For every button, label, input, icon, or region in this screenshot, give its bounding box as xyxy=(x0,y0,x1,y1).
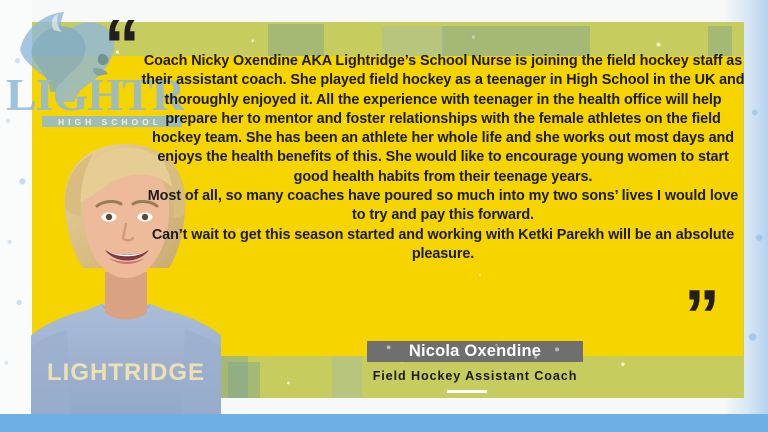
shirt-wordmark: LIGHTRIDGE xyxy=(47,359,205,386)
open-quote-icon: “ xyxy=(104,24,138,69)
announcement-graphic: LIGHTRIDGE HIGH SCHOOL xyxy=(0,0,768,432)
quote-paragraph: Coach Nicky Oxendine AKA Lightridge’s Sc… xyxy=(140,52,746,187)
divider-rule xyxy=(447,390,487,393)
bottom-blue-band xyxy=(0,414,768,432)
name-banner: Nicola Oxendine xyxy=(367,341,583,362)
quote-paragraph: Most of all, so many coaches have poured… xyxy=(140,187,746,226)
close-quote-icon: ” xyxy=(684,294,718,339)
collage-square xyxy=(228,362,260,398)
quote-body: Coach Nicky Oxendine AKA Lightridge’s Sc… xyxy=(140,52,746,264)
coach-name: Nicola Oxendine xyxy=(409,342,541,361)
quote-paragraph: Can’t wait to get this season started an… xyxy=(140,226,746,265)
coach-role: Field Hockey Assistant Coach xyxy=(330,369,620,383)
